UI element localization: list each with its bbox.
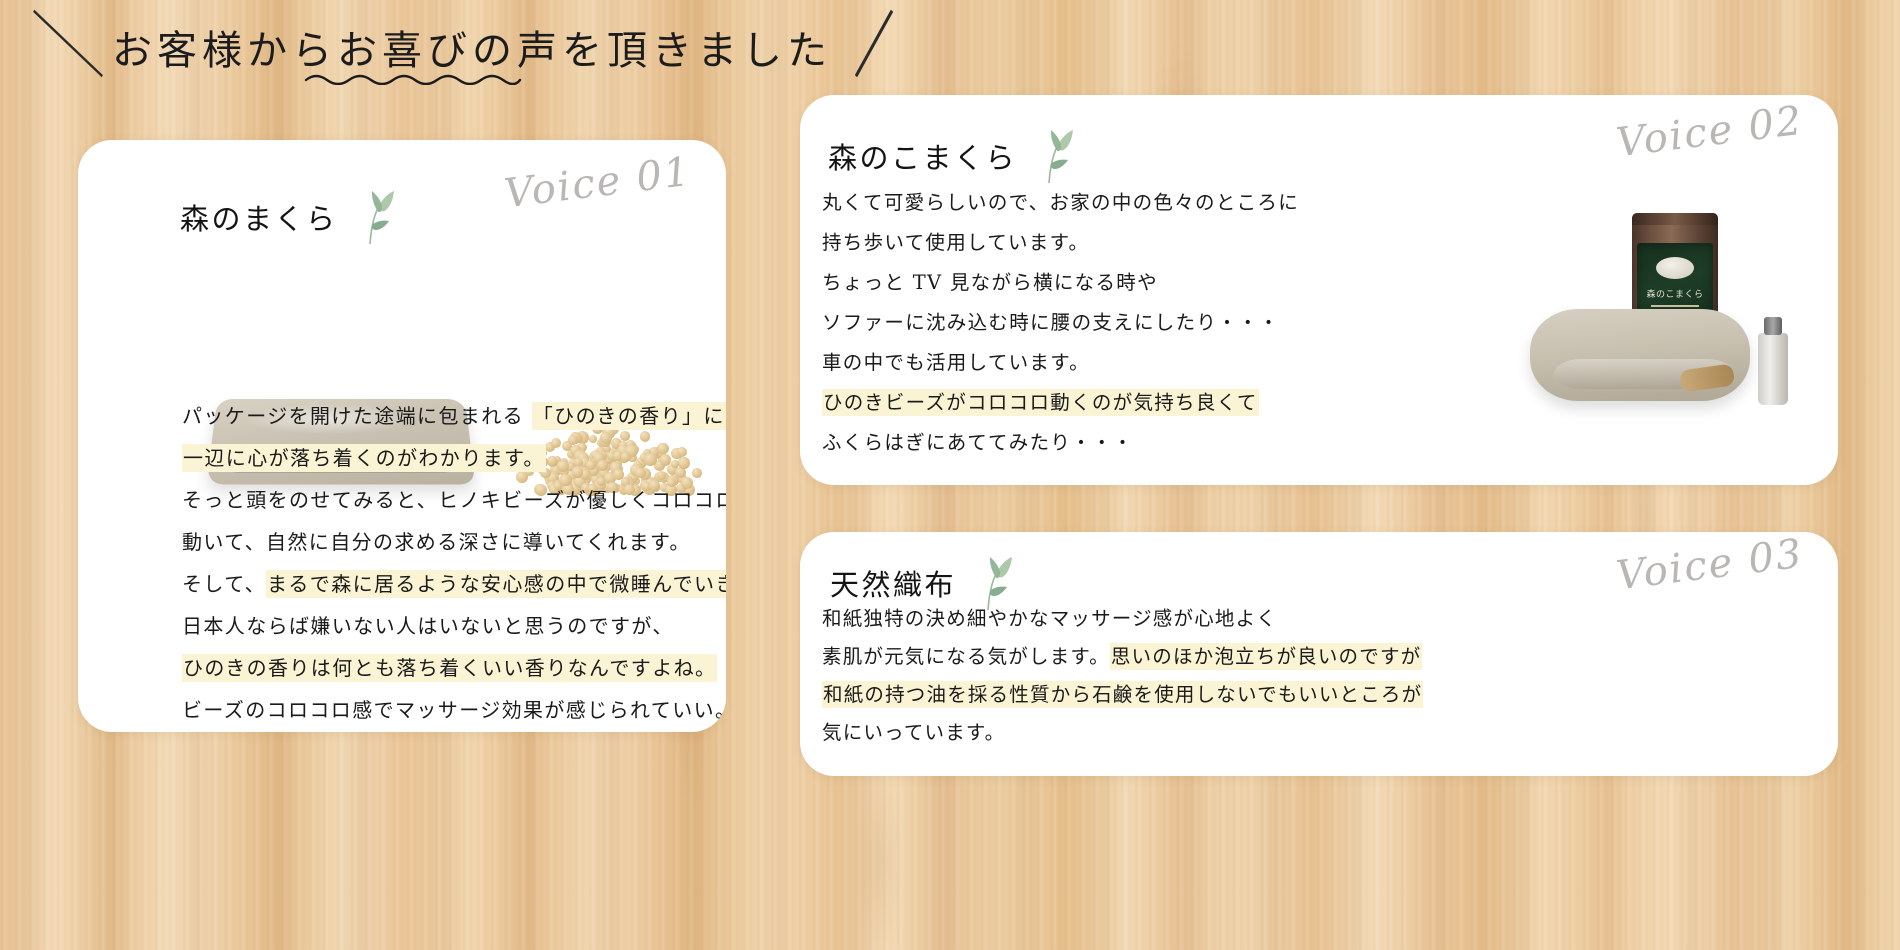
testimonial-line: 和紙独特の決め細やかなマッサージ感が心地よく — [822, 600, 1442, 638]
slash-left-icon: ＼ — [31, 11, 107, 84]
testimonial-line: 車の中でも活用しています。 — [822, 343, 1292, 383]
testimonial-line: ふくらはぎにあててみたり・・・ — [822, 423, 1292, 463]
testimonial-line: 日本人ならば嫌いない人はいないと思うのですが、 — [182, 605, 722, 647]
plain-text: ソファーに沈み込む時に腰の支えにしたり・・・ — [822, 311, 1280, 334]
voice-number-label: Voice 03 — [1614, 532, 1806, 599]
plain-text: そっと頭をのせてみると、ヒノキビーズが優しくコロコロと — [182, 488, 726, 512]
testimonial-card-voice-01: 森のまくら Voice 01 パッケージを開けた途端に包まれる 「ひのきの香り」… — [78, 140, 726, 732]
slash-right-icon: ／ — [837, 11, 913, 84]
testimonial-line: ソファーに沈み込む時に腰の支えにしたり・・・ — [822, 303, 1292, 343]
card-title: 天然織布 — [830, 562, 956, 604]
plain-text: 素肌が元気になる気がします。 — [822, 645, 1110, 668]
plain-text: 気にいっています。 — [822, 721, 1005, 744]
roll-pillow — [1530, 309, 1750, 401]
page-title: お客様からお喜びの声を頂きました — [112, 18, 832, 76]
testimonial-line: パッケージを開けた途端に包まれる 「ひのきの香り」に — [182, 395, 722, 437]
testimonial-line: ひのきの香りは何とも落ち着くいい香りなんですよね。 — [182, 647, 722, 689]
testimonial-line: 持ち歩いて使用しています。 — [822, 223, 1292, 263]
spray-bottle — [1758, 333, 1788, 405]
card-title: 森のこまくら — [828, 135, 1017, 177]
plain-text: 動いて、自然に自分の求める深さに導いてくれます。 — [182, 530, 691, 554]
testimonial-line: 和紙の持つ油を採る性質から石鹸を使用しないでもいいところが — [822, 676, 1442, 714]
testimonial-line: 気にいっています。 — [822, 714, 1442, 752]
komakura-product-photo: 森のこまくら — [1520, 213, 1820, 443]
plain-text: そして、 — [182, 572, 266, 596]
plain-text: パッケージを開けた途端に包まれる — [182, 404, 532, 428]
page-header: ＼ お客様からお喜びの声を頂きました ／ — [40, 18, 904, 76]
testimonial-line: そして、まるで森に居るような安心感の中で微睡んでいきます。 — [182, 563, 722, 605]
leaf-sprig-icon — [1027, 127, 1075, 185]
highlighted-text: 思いのほか泡立ちが良いのですが — [1110, 643, 1423, 670]
testimonial-card-voice-03: 天然織布 Voice 03 和紙独特の決め細やかなマッサージ感が心地よく素肌が元… — [800, 532, 1838, 776]
testimonial-line: 素肌が元気になる気がします。思いのほか泡立ちが良いのですが — [822, 638, 1442, 676]
testimonial-line: ひのきビーズがコロコロ動くのが気持ち良くて — [822, 383, 1292, 423]
tube-label-text: 森のこまくら — [1637, 287, 1713, 300]
card-title: 森のまくら — [180, 196, 338, 238]
testimonial-line: 一辺に心が落ち着くのがわかります。 — [182, 437, 722, 479]
tube-cap — [1632, 213, 1718, 225]
highlighted-text: 和紙の持つ油を採る性質から石鹸を使用しないでもいいところが — [822, 681, 1423, 708]
spray-bottle-nozzle — [1764, 317, 1782, 335]
tube-label-emblem — [1656, 257, 1694, 279]
plain-text: 持ち歩いて使用しています。 — [822, 231, 1089, 254]
plain-text: ビーズのコロコロ感でマッサージ効果が感じられていい。 — [182, 698, 726, 722]
card-header-voice-01: 森のまくら — [180, 188, 396, 246]
testimonial-body-voice-01: パッケージを開けた途端に包まれる 「ひのきの香り」に一辺に心が落ち着くのがわかり… — [182, 395, 722, 731]
testimonial-line: そっと頭をのせてみると、ヒノキビーズが優しくコロコロと — [182, 479, 722, 521]
highlighted-text: まるで森に居るような安心感の中で微睡んでいきます。 — [266, 570, 726, 598]
testimonial-body-voice-03: 和紙独特の決め細やかなマッサージ感が心地よく素肌が元気になる気がします。思いのほ… — [822, 600, 1442, 752]
highlighted-text: ひのきの香りは何とも落ち着くいい香りなんですよね。 — [182, 654, 717, 682]
testimonial-line: ビーズのコロコロ感でマッサージ効果が感じられていい。 — [182, 689, 722, 731]
plain-text: 和紙独特の決め細やかなマッサージ感が心地よく — [822, 607, 1277, 630]
highlighted-text: 一辺に心が落ち着くのがわかります。 — [182, 444, 546, 472]
plain-text: 丸くて可愛らしいので、お家の中の色々のところに — [822, 191, 1299, 214]
testimonial-body-voice-02: 丸くて可愛らしいので、お家の中の色々のところに持ち歩いて使用しています。ちょっと… — [822, 183, 1292, 463]
voice-number-label: Voice 01 — [502, 149, 694, 218]
voice-number-label: Voice 02 — [1614, 98, 1806, 167]
testimonial-line: 丸くて可愛らしいので、お家の中の色々のところに — [822, 183, 1292, 223]
testimonial-card-voice-02: 森のこまくら Voice 02 森のこまくら 丸くて可愛らしいので、お家の中の色… — [800, 95, 1838, 485]
plain-text: 日本人ならば嫌いない人はいないと思うのですが、 — [182, 614, 674, 638]
header-title-wrap: お客様からお喜びの声を頂きました — [112, 18, 832, 76]
plain-text: ちょっと TV 見ながら横になる時や — [822, 271, 1158, 294]
wavy-underline-icon — [304, 71, 522, 85]
highlighted-text: 「ひのきの香り」に — [532, 402, 726, 430]
leaf-sprig-icon — [348, 188, 396, 246]
highlighted-text: ひのきビーズがコロコロ動くのが気持ち良くて — [822, 389, 1259, 416]
card-header-voice-02: 森のこまくら — [828, 127, 1075, 185]
tube-label-rule — [1651, 305, 1699, 307]
testimonial-line: ちょっと TV 見ながら横になる時や — [822, 263, 1292, 303]
testimonial-line: 動いて、自然に自分の求める深さに導いてくれます。 — [182, 521, 722, 563]
plain-text: 車の中でも活用しています。 — [822, 351, 1090, 374]
plain-text: ふくらはぎにあててみたり・・・ — [822, 431, 1134, 454]
